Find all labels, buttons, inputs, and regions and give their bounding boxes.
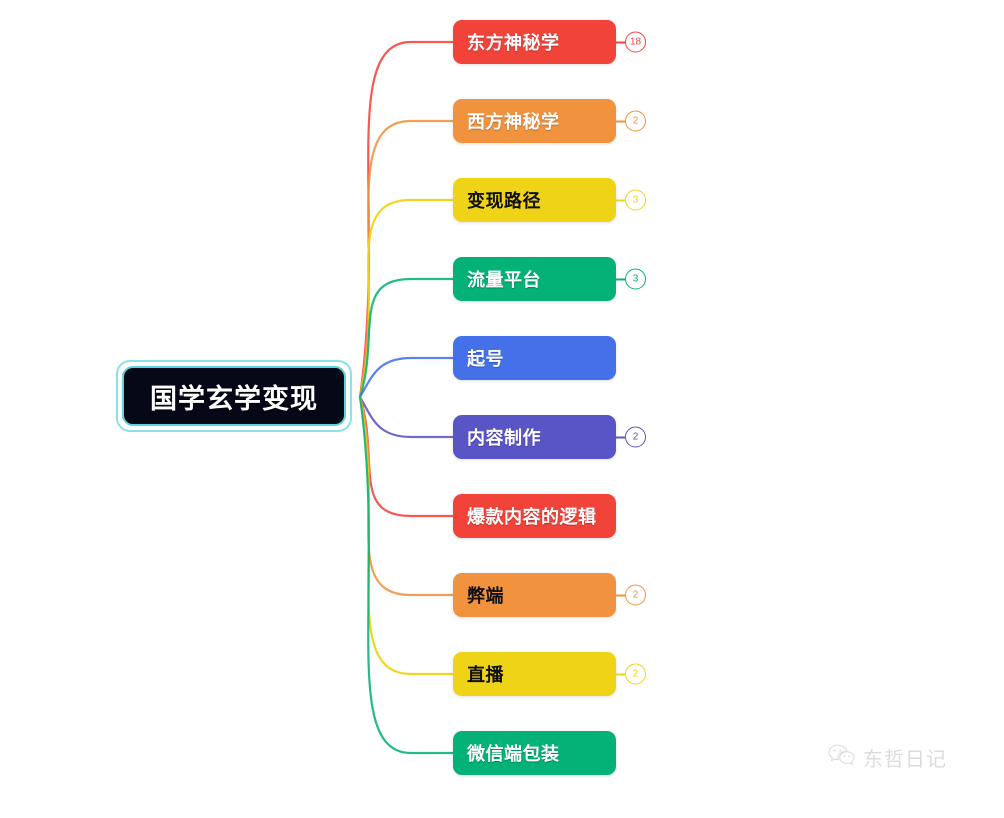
branch-node-label: 内容制作 bbox=[453, 424, 541, 450]
branch-node-label: 变现路径 bbox=[453, 187, 541, 213]
branch-node[interactable]: 西方神秘学2 bbox=[453, 99, 616, 143]
connector-line bbox=[360, 200, 453, 397]
badge-stub bbox=[616, 41, 625, 43]
root-node[interactable]: 国学玄学变现 bbox=[116, 360, 352, 432]
badge-count: 2 bbox=[625, 427, 646, 448]
root-node-body: 国学玄学变现 bbox=[122, 366, 346, 426]
branch-node-label: 爆款内容的逻辑 bbox=[453, 503, 597, 529]
connector-line bbox=[360, 397, 453, 437]
badge-stub bbox=[616, 199, 625, 201]
branch-collapse-badge[interactable]: 3 bbox=[616, 269, 646, 290]
connector-line bbox=[360, 397, 453, 516]
badge-count: 3 bbox=[625, 269, 646, 290]
branch-collapse-badge[interactable]: 2 bbox=[616, 585, 646, 606]
watermark: 东哲日记 bbox=[828, 743, 947, 772]
badge-count: 2 bbox=[625, 111, 646, 132]
branch-node[interactable]: 变现路径3 bbox=[453, 178, 616, 222]
branch-node-label: 起号 bbox=[453, 345, 504, 371]
branch-node-label: 弊端 bbox=[453, 582, 504, 608]
branch-node-label: 微信端包装 bbox=[453, 740, 560, 766]
root-node-label: 国学玄学变现 bbox=[150, 377, 318, 416]
branch-node[interactable]: 内容制作2 bbox=[453, 415, 616, 459]
watermark-text: 东哲日记 bbox=[863, 743, 947, 772]
connector-line bbox=[360, 42, 453, 397]
connector-line bbox=[360, 397, 453, 595]
connector-line bbox=[360, 121, 453, 397]
branch-node[interactable]: 东方神秘学18 bbox=[453, 20, 616, 64]
wechat-icon bbox=[828, 744, 855, 772]
branch-node-label: 西方神秘学 bbox=[453, 108, 560, 134]
badge-stub bbox=[616, 673, 625, 675]
branch-collapse-badge[interactable]: 2 bbox=[616, 664, 646, 685]
badge-count: 3 bbox=[625, 190, 646, 211]
connector-line bbox=[360, 279, 453, 397]
branch-node[interactable]: 微信端包装 bbox=[453, 731, 616, 775]
branch-node-label: 流量平台 bbox=[453, 266, 541, 292]
connector-line bbox=[360, 358, 453, 397]
mindmap-canvas: 国学玄学变现 东方神秘学18西方神秘学2变现路径3流量平台3起号内容制作2爆款内… bbox=[0, 0, 1004, 818]
badge-stub bbox=[616, 120, 625, 122]
branch-collapse-badge[interactable]: 3 bbox=[616, 190, 646, 211]
badge-stub bbox=[616, 436, 625, 438]
branch-node[interactable]: 弊端2 bbox=[453, 573, 616, 617]
connector-line bbox=[360, 397, 453, 753]
connector-line bbox=[360, 397, 453, 674]
branch-node[interactable]: 流量平台3 bbox=[453, 257, 616, 301]
badge-stub bbox=[616, 278, 625, 280]
badge-count: 2 bbox=[625, 664, 646, 685]
badge-count: 2 bbox=[625, 585, 646, 606]
branch-node[interactable]: 直播2 bbox=[453, 652, 616, 696]
badge-count: 18 bbox=[625, 32, 646, 53]
branch-collapse-badge[interactable]: 2 bbox=[616, 111, 646, 132]
branch-node-label: 东方神秘学 bbox=[453, 29, 560, 55]
badge-stub bbox=[616, 594, 625, 596]
branch-collapse-badge[interactable]: 18 bbox=[616, 32, 646, 53]
branch-node-label: 直播 bbox=[453, 661, 504, 687]
branch-collapse-badge[interactable]: 2 bbox=[616, 427, 646, 448]
branch-node[interactable]: 爆款内容的逻辑 bbox=[453, 494, 616, 538]
branch-node[interactable]: 起号 bbox=[453, 336, 616, 380]
